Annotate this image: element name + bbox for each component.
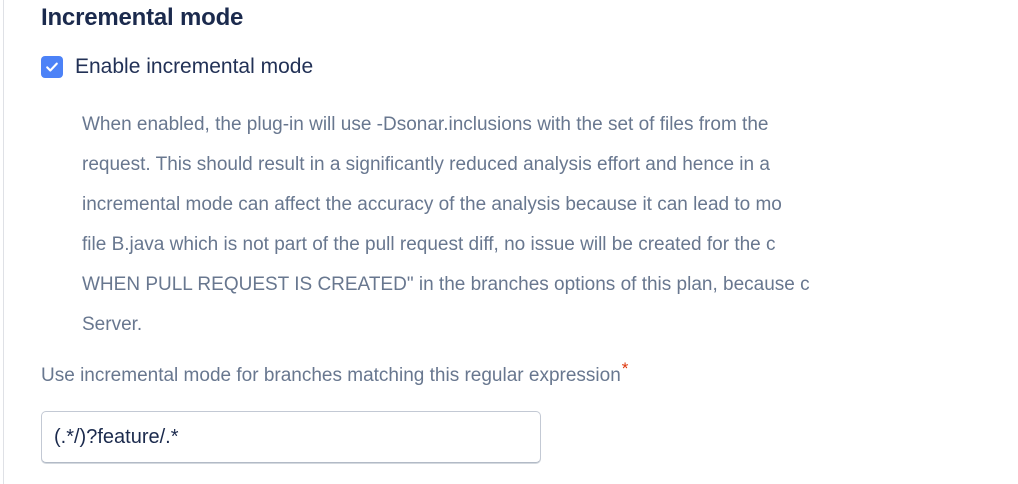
description-line: incremental mode can affect the accuracy… bbox=[82, 185, 1018, 225]
description-line: file B.java which is not part of the pul… bbox=[82, 225, 1018, 265]
branch-regex-input[interactable] bbox=[41, 411, 541, 463]
branch-regex-field-group: Use incremental mode for branches matchi… bbox=[41, 364, 1001, 388]
description-line: request. This should result in a signifi… bbox=[82, 145, 1018, 185]
incremental-mode-settings-screen: Incremental mode Enable incremental mode… bbox=[0, 0, 1018, 484]
enable-incremental-mode-label[interactable]: Enable incremental mode bbox=[75, 54, 313, 80]
branch-regex-label: Use incremental mode for branches matchi… bbox=[41, 364, 1001, 388]
enable-incremental-mode-checkbox[interactable] bbox=[41, 56, 63, 78]
description-line: Server. bbox=[82, 305, 1018, 345]
page-title: Incremental mode bbox=[41, 3, 243, 33]
enable-incremental-mode-row[interactable]: Enable incremental mode bbox=[41, 54, 313, 80]
description-line: When enabled, the plug-in will use -Dson… bbox=[82, 105, 1018, 145]
required-asterisk-icon: * bbox=[622, 359, 629, 378]
check-icon bbox=[44, 59, 60, 75]
incremental-mode-panel: Incremental mode Enable incremental mode… bbox=[0, 0, 1018, 484]
branch-regex-label-text: Use incremental mode for branches matchi… bbox=[41, 365, 621, 386]
description-line: WHEN PULL REQUEST IS CREATED" in the bra… bbox=[82, 265, 1018, 305]
incremental-mode-description: When enabled, the plug-in will use -Dson… bbox=[82, 105, 1018, 345]
